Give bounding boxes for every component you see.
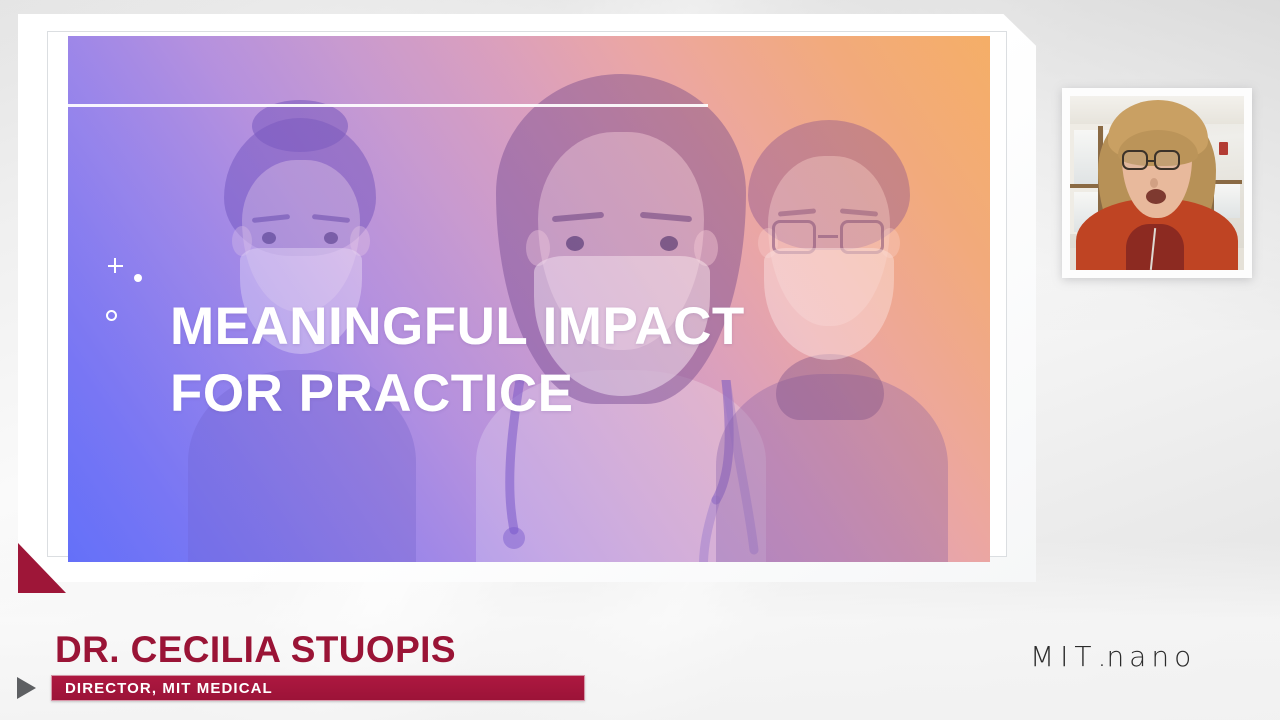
- speaker-portrait: [1070, 120, 1244, 270]
- speaker-mouth: [1146, 189, 1166, 204]
- speaker-title-bar: DIRECTOR, MIT MEDICAL: [51, 675, 585, 701]
- lower-third: DR. CECILIA STUOPIS DIRECTOR, MIT MEDICA…: [0, 620, 640, 710]
- slide-title-line-2: FOR PRACTICE: [170, 361, 910, 428]
- play-triangle-icon: [17, 677, 36, 699]
- logo-mit-text: MIT: [1030, 640, 1098, 673]
- speaker-glasses-lens-right: [1154, 150, 1180, 170]
- logo-nano-text: nano: [1106, 640, 1196, 673]
- speaker-glasses-lens-left: [1122, 150, 1148, 170]
- mitnano-logo: MIT.nano: [1030, 640, 1196, 673]
- speaker-glasses-bridge: [1148, 160, 1156, 163]
- plus-mark-icon: [108, 258, 123, 273]
- slide-title-line-1: MEANINGFUL IMPACT: [170, 294, 910, 361]
- slide-title: MEANINGFUL IMPACT FOR PRACTICE: [170, 294, 910, 428]
- slide-board[interactable]: MEANINGFUL IMPACT FOR PRACTICE: [18, 14, 1036, 582]
- webcam-video[interactable]: [1070, 96, 1244, 270]
- slide-top-rule: [68, 104, 708, 107]
- ring-mark-icon: [106, 310, 117, 321]
- webcam-frame[interactable]: [1062, 88, 1252, 278]
- slide-artwork: MEANINGFUL IMPACT FOR PRACTICE: [68, 36, 990, 562]
- speaker-title: DIRECTOR, MIT MEDICAL: [65, 680, 273, 697]
- speaker-nose: [1150, 178, 1158, 188]
- speaker-name: DR. CECILIA STUOPIS: [55, 629, 456, 671]
- dot-mark-icon: [134, 274, 142, 282]
